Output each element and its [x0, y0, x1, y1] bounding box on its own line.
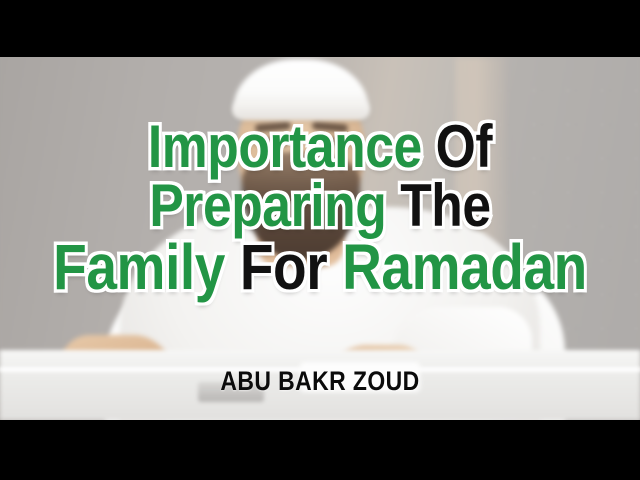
title-word: The — [400, 172, 490, 239]
letterbox-top — [0, 0, 640, 57]
video-thumbnail: Importance Of Preparing The Family For R… — [0, 0, 640, 480]
title-line-1: Importance Of — [45, 118, 595, 177]
letterbox-bottom — [0, 420, 640, 480]
title-overlay: Importance Of Preparing The Family For R… — [0, 118, 640, 298]
title-word: Ramadan — [342, 231, 587, 303]
title-word: Family — [53, 231, 225, 303]
title-line-3: Family For Ramadan — [45, 236, 595, 299]
title-line-2: Preparing The — [45, 177, 595, 236]
title-word: Of — [436, 113, 492, 180]
title-word: Importance — [148, 113, 422, 180]
title-word: For — [240, 231, 327, 303]
title-word: Preparing — [149, 172, 386, 239]
speaker-name-label: ABU BAKR ZOUD — [48, 366, 592, 397]
